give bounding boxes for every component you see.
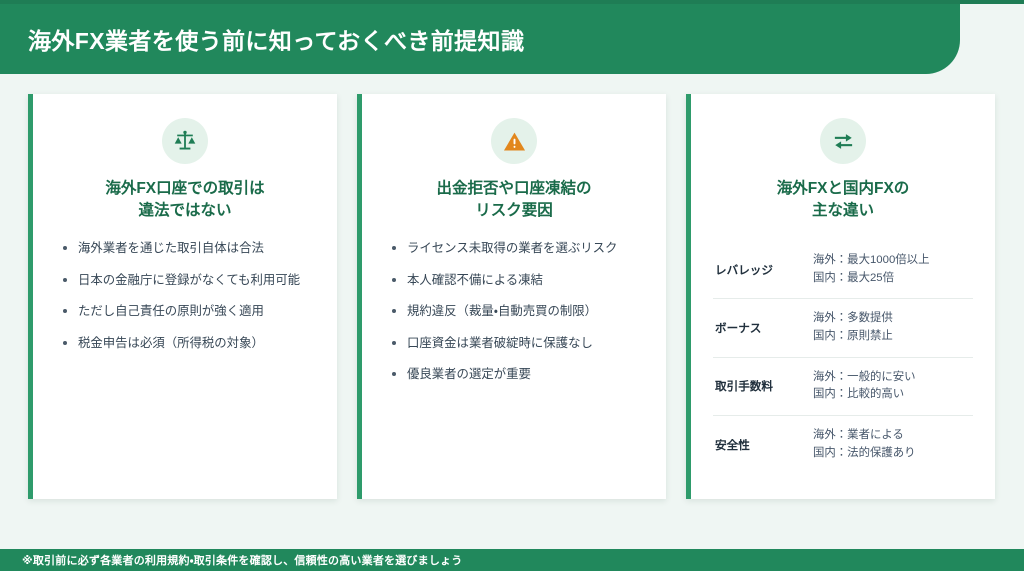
card-title-line-1: 海外FXと国内FXの <box>777 178 910 200</box>
page-footer: ※取引前に必ず各業者の利用規約・取引条件を確認し、信頼性の高い業者を選びましょう <box>0 549 1024 571</box>
value-domestic: 国内：最大25倍 <box>813 270 973 288</box>
card-row: 海外FX口座での取引は 違法ではない 海外業者を通じた取引自体は合法 日本の金融… <box>28 94 996 499</box>
table-row: レバレッジ 海外：最大1000倍以上 国内：最大25倍 <box>713 241 973 299</box>
warning-triangle-icon-badge <box>491 118 537 164</box>
list-item: 優良業者の選定が重要 <box>390 365 644 384</box>
list-item: 本人確認不備による凍結 <box>390 271 644 290</box>
table-cell-values: 海外：多数提供 国内：原則禁止 <box>799 299 973 357</box>
card-risk-factors: 出金拒否や口座凍結の リスク要因 ライセンス未取得の業者を選ぶリスク 本人確認不… <box>357 94 666 499</box>
list-item: 口座資金は業者破綻時に保護なし <box>390 334 644 353</box>
card-legal-status: 海外FX口座での取引は 違法ではない 海外業者を通じた取引自体は合法 日本の金融… <box>28 94 337 499</box>
page-header: 海外FX業者を使う前に知っておくべき前提知識 <box>0 4 960 74</box>
list-item: 税金申告は必須（所得税の対象） <box>61 334 315 353</box>
table-row: ボーナス 海外：多数提供 国内：原則禁止 <box>713 299 973 357</box>
card-title-line-2: リスク要因 <box>436 200 591 222</box>
list-item: 日本の金融庁に登録がなくても利用可能 <box>61 271 315 290</box>
value-domestic: 国内：比較的高い <box>813 386 973 404</box>
card-title-line-1: 海外FX口座での取引は <box>105 178 264 200</box>
list-item: ただし自己責任の原則が強く適用 <box>61 302 315 321</box>
bullet-list: 海外業者を通じた取引自体は合法 日本の金融庁に登録がなくても利用可能 ただし自己… <box>55 239 315 365</box>
table-row: 取引手数料 海外：一般的に安い 国内：比較的高い <box>713 357 973 415</box>
footer-note: ※取引前に必ず各業者の利用規約・取引条件を確認し、信頼性の高い業者を選びましょう <box>22 552 462 568</box>
table-cell-label: 安全性 <box>713 415 799 473</box>
table-cell-label: レバレッジ <box>713 241 799 299</box>
scales-icon-badge <box>162 118 208 164</box>
exchange-arrows-icon-badge <box>820 118 866 164</box>
list-item: 規約違反（裁量・自動売買の制限） <box>390 302 644 321</box>
value-overseas: 海外：業者による <box>813 427 973 445</box>
table-row: 安全性 海外：業者による 国内：法的保護あり <box>713 415 973 473</box>
exchange-arrows-icon <box>832 130 855 153</box>
table-cell-values: 海外：業者による 国内：法的保護あり <box>799 415 973 473</box>
card-title-line-2: 違法ではない <box>105 200 264 222</box>
table-cell-label: 取引手数料 <box>713 357 799 415</box>
warning-triangle-icon <box>503 130 526 153</box>
table-cell-values: 海外：一般的に安い 国内：比較的高い <box>799 357 973 415</box>
table-cell-label: ボーナス <box>713 299 799 357</box>
page-title: 海外FX業者を使う前に知っておくべき前提知識 <box>28 22 524 56</box>
card-title-line-1: 出金拒否や口座凍結の <box>436 178 591 200</box>
comparison-table: レバレッジ 海外：最大1000倍以上 国内：最大25倍 ボーナス 海外：多数提供… <box>713 241 973 473</box>
card-title-line-2: 主な違い <box>777 200 910 222</box>
value-domestic: 国内：法的保護あり <box>813 445 973 463</box>
list-item: ライセンス未取得の業者を選ぶリスク <box>390 239 644 258</box>
value-overseas: 海外：一般的に安い <box>813 369 973 387</box>
card-title: 海外FX口座での取引は 違法ではない <box>105 178 264 223</box>
list-item: 海外業者を通じた取引自体は合法 <box>61 239 315 258</box>
table-cell-values: 海外：最大1000倍以上 国内：最大25倍 <box>799 241 973 299</box>
card-title: 海外FXと国内FXの 主な違い <box>777 178 910 223</box>
value-domestic: 国内：原則禁止 <box>813 328 973 346</box>
bullet-list: ライセンス未取得の業者を選ぶリスク 本人確認不備による凍結 規約違反（裁量・自動… <box>384 239 644 397</box>
scales-icon <box>173 129 197 153</box>
card-title: 出金拒否や口座凍結の リスク要因 <box>436 178 591 223</box>
card-comparison: 海外FXと国内FXの 主な違い レバレッジ 海外：最大1000倍以上 国内：最大… <box>686 94 995 499</box>
value-overseas: 海外：最大1000倍以上 <box>813 252 973 270</box>
value-overseas: 海外：多数提供 <box>813 310 973 328</box>
